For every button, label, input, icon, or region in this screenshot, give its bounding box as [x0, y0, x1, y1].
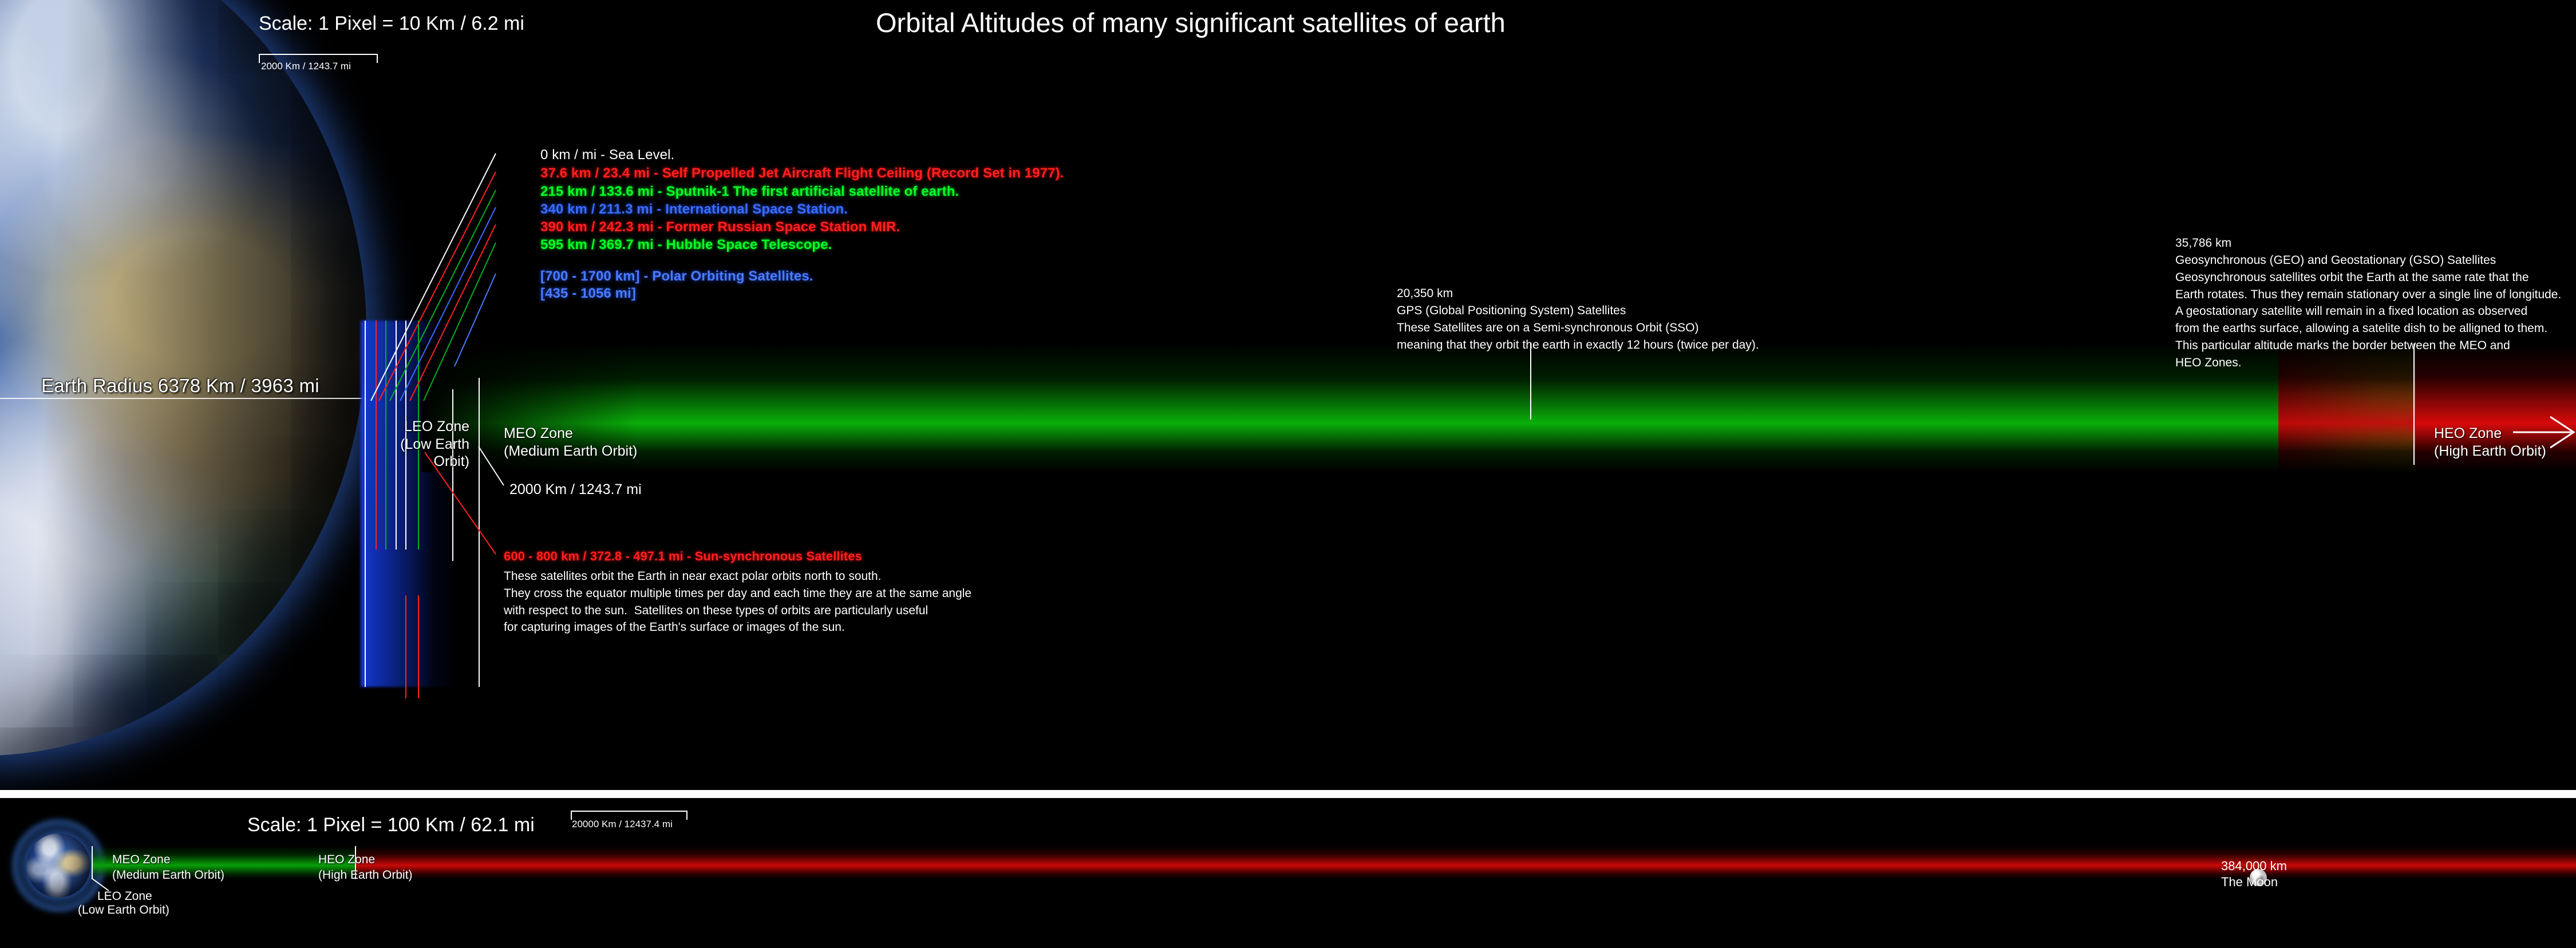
moon-name-label: The Moon — [2221, 874, 2278, 891]
gps-body: GPS (Global Positioning System) Satellit… — [1397, 302, 1759, 353]
sunsync-heading: 600 - 800 km / 372.8 - 497.1 mi - Sun-sy… — [504, 550, 862, 563]
bottom-panel: Scale: 1 Pixel = 100 Km / 62.1 mi 20000 … — [0, 798, 2576, 948]
sunsync-body: These satellites orbit the Earth in near… — [504, 568, 971, 636]
top-panel: Earth Radius 6378 Km / 3963 mi Orbital A… — [0, 0, 2576, 790]
mini-heo-label: HEO Zone (High Earth Orbit) — [318, 852, 413, 883]
gps-altitude: 20,350 km — [1397, 285, 1453, 302]
leo-zone-label: LEO Zone (Low Earth Orbit) — [355, 418, 469, 471]
bottom-scale-text: Scale: 1 Pixel = 100 Km / 62.1 mi — [247, 814, 535, 836]
geo-altitude: 35,786 km — [2175, 235, 2231, 252]
heo-zone-label: HEO Zone (High Earth Orbit) — [2434, 425, 2546, 460]
panel-divider — [0, 790, 2576, 798]
meo-zone-label-line1: MEO Zone — [504, 425, 637, 443]
callout-polar-line2: [435 - 1056 mi] — [540, 286, 636, 301]
mini-meo-label: MEO Zone (Medium Earth Orbit) — [112, 852, 224, 883]
leo-zone-label-line1: LEO Zone — [355, 418, 469, 436]
leo-zone-label-line2: (Low Earth — [355, 436, 469, 453]
mini-heo-label-line2: (High Earth Orbit) — [318, 867, 413, 883]
mini-heo-label-line1: HEO Zone — [318, 852, 413, 867]
callout-hubble: 595 km / 369.7 mi - Hubble Space Telesco… — [540, 238, 832, 252]
meo-zone-label-line2: (Medium Earth Orbit) — [504, 443, 637, 460]
callout-iss: 340 km / 211.3 mi - International Space … — [540, 202, 848, 216]
mini-meo-label-line2: (Medium Earth Orbit) — [112, 867, 224, 883]
leo-zone-label-line3: Orbit) — [355, 453, 469, 471]
callout-polar-line1: [700 - 1700 km] - Polar Orbiting Satelli… — [540, 269, 813, 283]
leader-lines — [0, 0, 2576, 790]
callout-mir: 390 km / 242.3 mi - Former Russian Space… — [540, 220, 900, 234]
mini-meo-label-line1: MEO Zone — [112, 852, 224, 867]
heo-zone-label-line1: HEO Zone — [2434, 425, 2546, 443]
heo-zone-label-line2: (High Earth Orbit) — [2434, 443, 2546, 460]
meo-zone-label: MEO Zone (Medium Earth Orbit) — [504, 425, 637, 460]
callout-sea-level: 0 km / mi - Sea Level. — [540, 148, 674, 162]
leo-boundary-label: 2000 Km / 1243.7 mi — [509, 481, 642, 499]
callout-jet-ceiling: 37.6 km / 23.4 mi - Self Propelled Jet A… — [540, 166, 1064, 180]
callout-sputnik: 215 km / 133.6 mi - Sputnik-1 The first … — [540, 184, 959, 199]
mini-leo-label-line2: (Low Earth Orbit) — [78, 902, 169, 918]
geo-body: Geosynchronous (GEO) and Geostationary (… — [2175, 252, 2561, 372]
infographic-canvas: Earth Radius 6378 Km / 3963 mi Orbital A… — [0, 0, 2576, 948]
moon-distance-label: 384,000 km — [2221, 858, 2287, 875]
bottom-scale-bar-label: 20000 Km / 12437.4 mi — [572, 819, 673, 830]
